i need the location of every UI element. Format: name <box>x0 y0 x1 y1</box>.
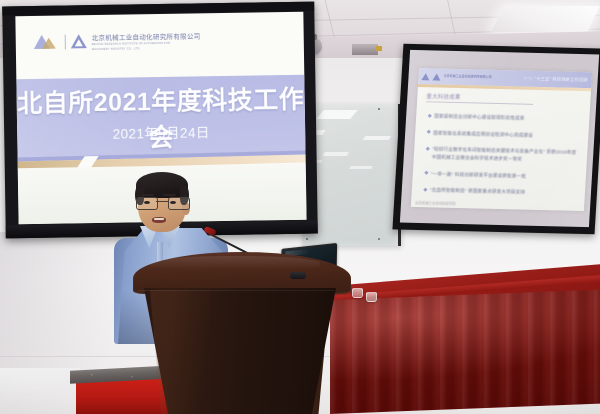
eyebrow-right <box>163 194 176 196</box>
side-slide-subtitle: 重大科技成果 <box>426 92 461 101</box>
whiteboard-mount-screw <box>378 108 380 110</box>
bullet-diamond-icon <box>428 113 432 117</box>
diamond-logo <box>71 33 87 50</box>
bullet-diamond-icon <box>427 130 431 134</box>
eye-right <box>170 201 176 204</box>
list-item: 国家级制造业创新中心建设取得阶段性成果 <box>428 112 582 124</box>
mountain-triangle-logo <box>421 73 430 80</box>
side-slide-company-name: 北京机械工业自动化研究所有限公司 <box>443 75 491 80</box>
diamond-logo <box>432 73 441 80</box>
lectern-top-sheen <box>150 256 320 270</box>
slide-title: 北自所2021年度科技工作会 <box>16 80 305 157</box>
side-slide-footer: 北京机械工业自动化研究所 <box>415 200 456 206</box>
list-item: "一带一路" 科技创新研发平台建设获批第一批 <box>425 170 579 182</box>
mountain-triangle-logo <box>34 34 60 51</box>
bullet-diamond-icon <box>426 146 430 150</box>
lectern-seam <box>138 290 334 291</box>
side-slide-rule <box>426 101 533 104</box>
screen-canvas: 北京机械工业自动化研究所有限公司 （一）"十三五" 科技创新工作回顾 重大科技成… <box>400 50 599 227</box>
bullet-diamond-icon <box>423 187 427 191</box>
whiteboard-glare <box>323 152 349 156</box>
conference-room-photo: 北京机械工业自动化研究所有限公司 （一）"十三五" 科技创新工作回顾 重大科技成… <box>0 0 600 414</box>
eye-left <box>144 201 150 204</box>
logo-divider <box>65 35 66 50</box>
recessed-ceiling-light <box>491 6 600 32</box>
whiteboard-glare <box>349 166 372 169</box>
bullet-text: "北自所智能制造" 获国家重点研发大项目支持 <box>430 186 526 196</box>
whiteboard-mount-screw <box>306 238 308 240</box>
whiteboard-mount-screw <box>378 238 380 240</box>
secondary-projection-screen: 北京机械工业自动化研究所有限公司 （一）"十三五" 科技创新工作回顾 重大科技成… <box>392 44 600 235</box>
water-glass[interactable] <box>366 292 377 302</box>
bullet-text: 国家级制造业创新中心建设取得阶段性成果 <box>434 112 525 122</box>
side-slide-section-label: （一）"十三五" 科技创新工作回顾 <box>521 76 592 84</box>
eyebrow-left <box>141 194 154 196</box>
floor-left <box>0 368 80 414</box>
bullet-diamond-icon <box>424 171 428 175</box>
side-slide: 北京机械工业自动化研究所有限公司 （一）"十三五" 科技创新工作回顾 重大科技成… <box>411 68 592 211</box>
list-item: 国家智能化系统集成应用验证检测中心完成建设 <box>427 129 581 141</box>
list-item: "轻纺行业数字化车间智能制造关键技术与装备产业化" 荣获2019年度中国机械工业… <box>426 145 580 165</box>
bullet-text: "轻纺行业数字化车间智能制造关键技术与装备产业化" 荣获2019年度中国机械工业… <box>432 145 580 165</box>
side-slide-bullet-list: 国家级制造业创新中心建设取得阶段性成果 国家智能化系统集成应用验证检测中心完成建… <box>424 112 582 198</box>
projector-screen-bracket <box>352 44 378 55</box>
mouth <box>152 217 166 223</box>
microphone-base <box>290 272 306 279</box>
slide-logo: 北京机械工业自动化研究所有限公司 BEIJING RESEARCH INSTIT… <box>34 30 201 52</box>
bullet-text: 国家智能化系统集成应用验证检测中心完成建设 <box>433 129 533 139</box>
whiteboard-glare <box>316 110 358 119</box>
slide-company-name-en-2: MACHINERY INDUSTRY CO., LTD. <box>92 46 201 51</box>
whiteboard-glare <box>363 136 391 140</box>
red-velvet-table-skirt <box>330 290 600 414</box>
slide-company-name-cn: 北京机械工业自动化研究所有限公司 <box>92 30 201 42</box>
bullet-text: "一带一路" 科技创新研发平台建设获批第一批 <box>431 170 527 180</box>
list-item: "北自所智能制造" 获国家重点研发大项目支持 <box>424 186 578 198</box>
water-glass[interactable] <box>352 288 363 298</box>
